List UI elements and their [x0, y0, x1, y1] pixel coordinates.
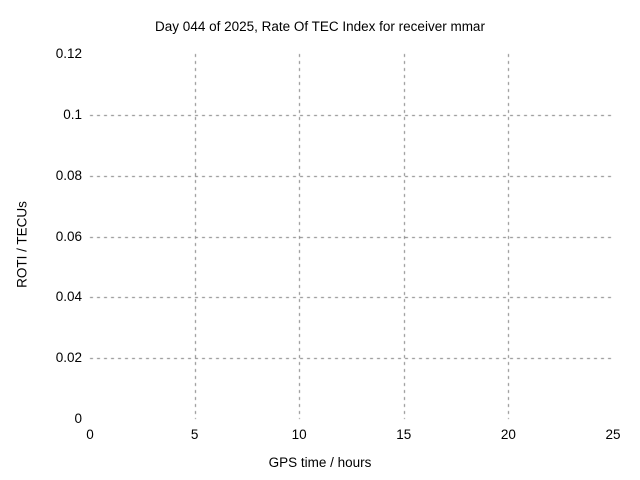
x-tick-label: 20	[488, 427, 528, 442]
x-tick-label: 10	[279, 427, 319, 442]
y-tick-label: 0.12	[28, 46, 82, 61]
y-tick-label: 0.04	[28, 289, 82, 304]
x-tick-label: 5	[175, 427, 215, 442]
y-tick-label: 0.1	[28, 107, 82, 122]
y-tick-label: 0.08	[28, 168, 82, 183]
x-axis-title: GPS time / hours	[0, 455, 640, 470]
x-tick-label: 25	[593, 427, 633, 442]
chart-title: Day 044 of 2025, Rate Of TEC Index for r…	[0, 19, 640, 34]
y-tick-label: 0.02	[28, 350, 82, 365]
x-tick-label: 15	[384, 427, 424, 442]
y-tick-label: 0.06	[28, 229, 82, 244]
plot-canvas	[0, 0, 640, 480]
y-tick-label: 0	[28, 411, 82, 426]
x-tick-label: 0	[70, 427, 110, 442]
roti-scatter-plot: Day 044 of 2025, Rate Of TEC Index for r…	[0, 0, 640, 480]
